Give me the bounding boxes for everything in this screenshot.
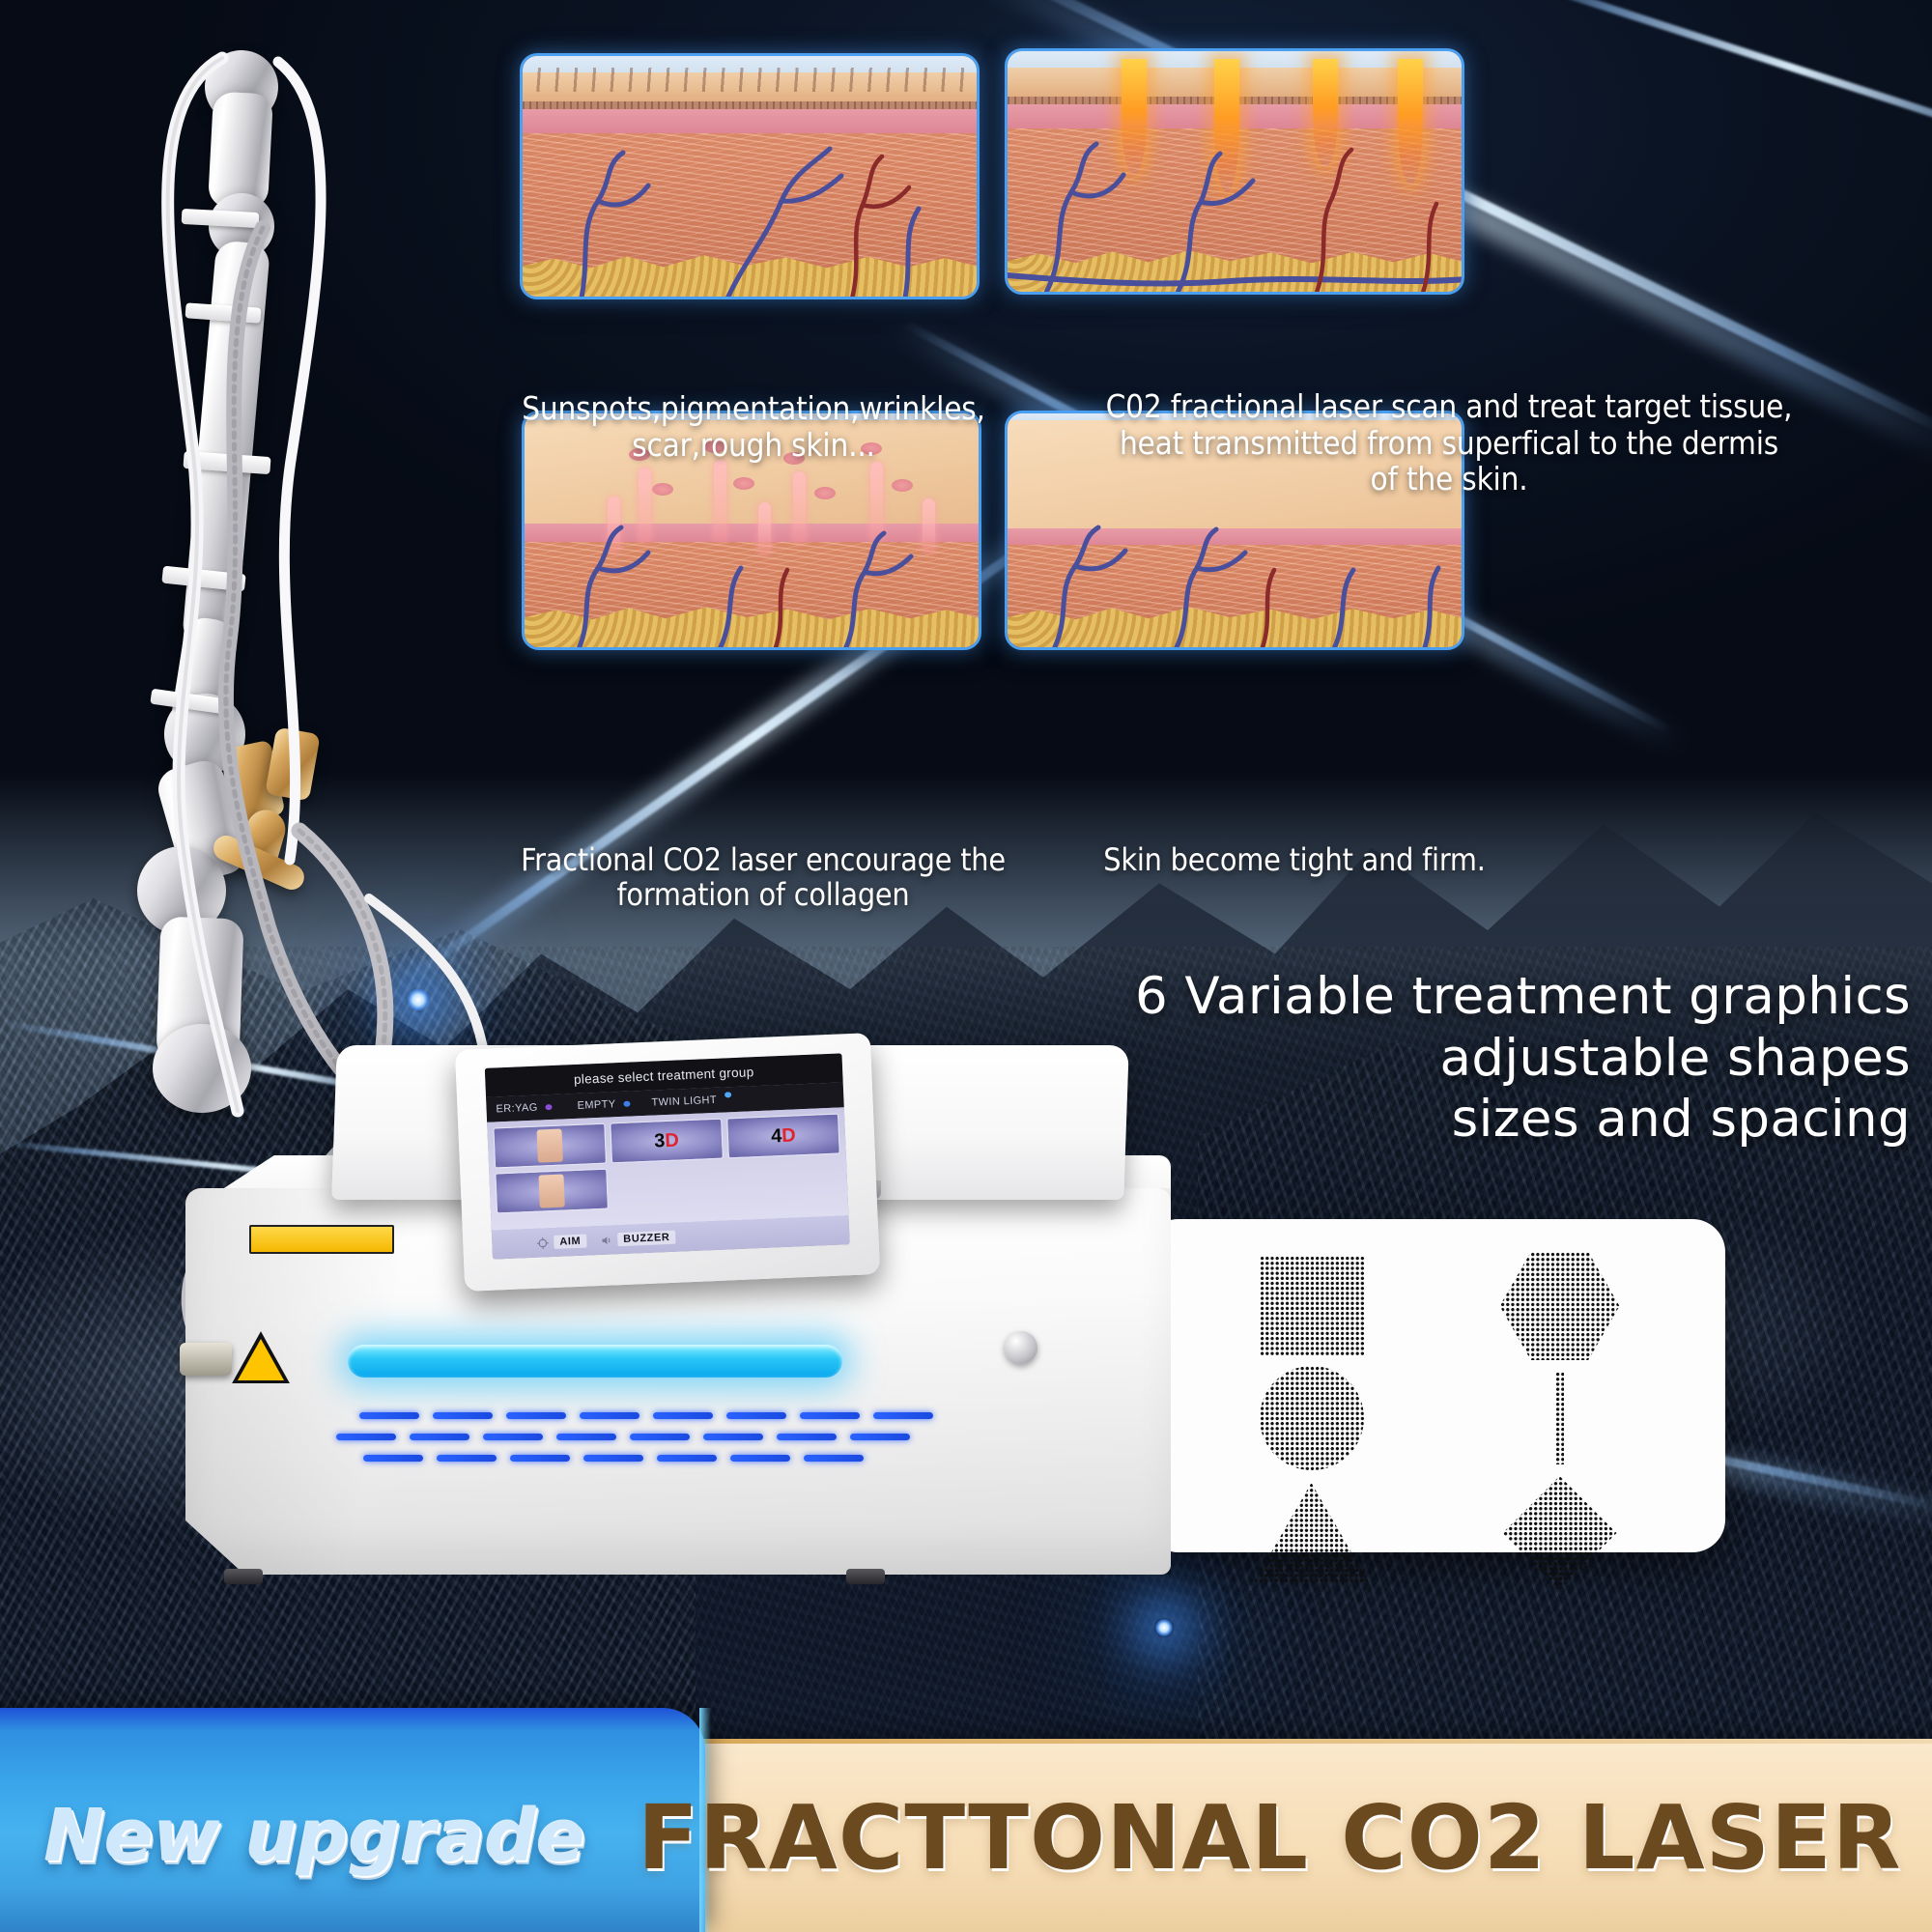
tab-empty-label[interactable]: EMPTY: [577, 1098, 615, 1112]
shape-cell-hexagon[interactable]: [1438, 1252, 1681, 1360]
shape-cell-diamond[interactable]: [1438, 1476, 1681, 1590]
body-thumbnail-icon: [538, 1175, 564, 1208]
treatment-tile-3d[interactable]: 3D: [610, 1119, 724, 1164]
co2-laser-machine: please select treatment group ER:YAG EMP…: [155, 0, 1179, 1623]
shape-cell-square[interactable]: [1190, 1252, 1433, 1360]
aim-button[interactable]: AIM: [536, 1235, 587, 1250]
poster-canvas: Sunspots,pigmentation,wrinkles, scar,rou…: [0, 0, 1932, 1932]
tab-eryag-label[interactable]: ER:YAG: [496, 1102, 538, 1116]
arm-base-joint: [153, 1024, 251, 1113]
laser-warning-label: [249, 1225, 394, 1254]
buzzer-button[interactable]: BUZZER: [600, 1231, 676, 1247]
tab-twinlight-led-icon: [724, 1092, 731, 1097]
tab-empty-led-icon: [623, 1101, 630, 1107]
diamond-shape-icon: [1503, 1476, 1617, 1590]
shape-cell-triangle[interactable]: [1190, 1476, 1433, 1590]
tile-4d-suffix: D: [781, 1124, 796, 1148]
laser-hazard-icon: [232, 1331, 292, 1385]
handpiece-gold-barrel: [265, 727, 320, 802]
product-title: FRACTTONAL CO2 LASER: [638, 1786, 1902, 1889]
treatment-tile-body[interactable]: [495, 1169, 609, 1214]
hexagon-shape-icon: [1500, 1252, 1620, 1360]
circle-shape-icon: [1260, 1366, 1364, 1470]
tile-3d-suffix: D: [665, 1129, 679, 1152]
machine-foot: [224, 1569, 263, 1584]
buzzer-label: BUZZER: [617, 1231, 676, 1247]
tab-eryag-led-icon: [546, 1104, 553, 1110]
triangle-shape-icon: [1254, 1483, 1370, 1583]
speaker-icon: [600, 1234, 613, 1247]
machine-foot: [846, 1569, 885, 1584]
face-thumbnail-icon: [536, 1129, 562, 1163]
power-knob[interactable]: [1005, 1331, 1037, 1364]
cable-strap: [182, 209, 260, 228]
touchscreen[interactable]: please select treatment group ER:YAG EMP…: [485, 1053, 850, 1259]
shape-cell-circle[interactable]: [1190, 1366, 1433, 1470]
vent-grille: [359, 1403, 958, 1470]
aim-label: AIM: [554, 1235, 587, 1249]
tab-twinlight-label[interactable]: TWIN LIGHT: [651, 1094, 717, 1109]
crosshair-icon: [536, 1236, 550, 1250]
fiber-port-connector: [180, 1343, 232, 1376]
touchscreen-bezel: please select treatment group ER:YAG EMP…: [455, 1033, 880, 1292]
new-upgrade-badge: New upgrade: [44, 1795, 585, 1878]
blue-light-bar: [348, 1345, 842, 1378]
treatment-group-grid: 3D 4D: [493, 1114, 841, 1214]
shape-cell-line[interactable]: [1438, 1366, 1681, 1470]
screen-content: 3D 4D: [487, 1107, 848, 1230]
square-shape-icon: [1260, 1256, 1364, 1356]
bottom-banner: New upgrade FRACTTONAL CO2 LASER: [0, 1708, 1932, 1932]
treatment-shapes-panel: [1146, 1219, 1725, 1552]
line-shape-icon: [1555, 1372, 1564, 1464]
treatment-tile-face[interactable]: [493, 1123, 607, 1169]
screen-title: please select treatment group: [574, 1065, 754, 1087]
treatment-tile-4d[interactable]: 4D: [726, 1114, 840, 1159]
